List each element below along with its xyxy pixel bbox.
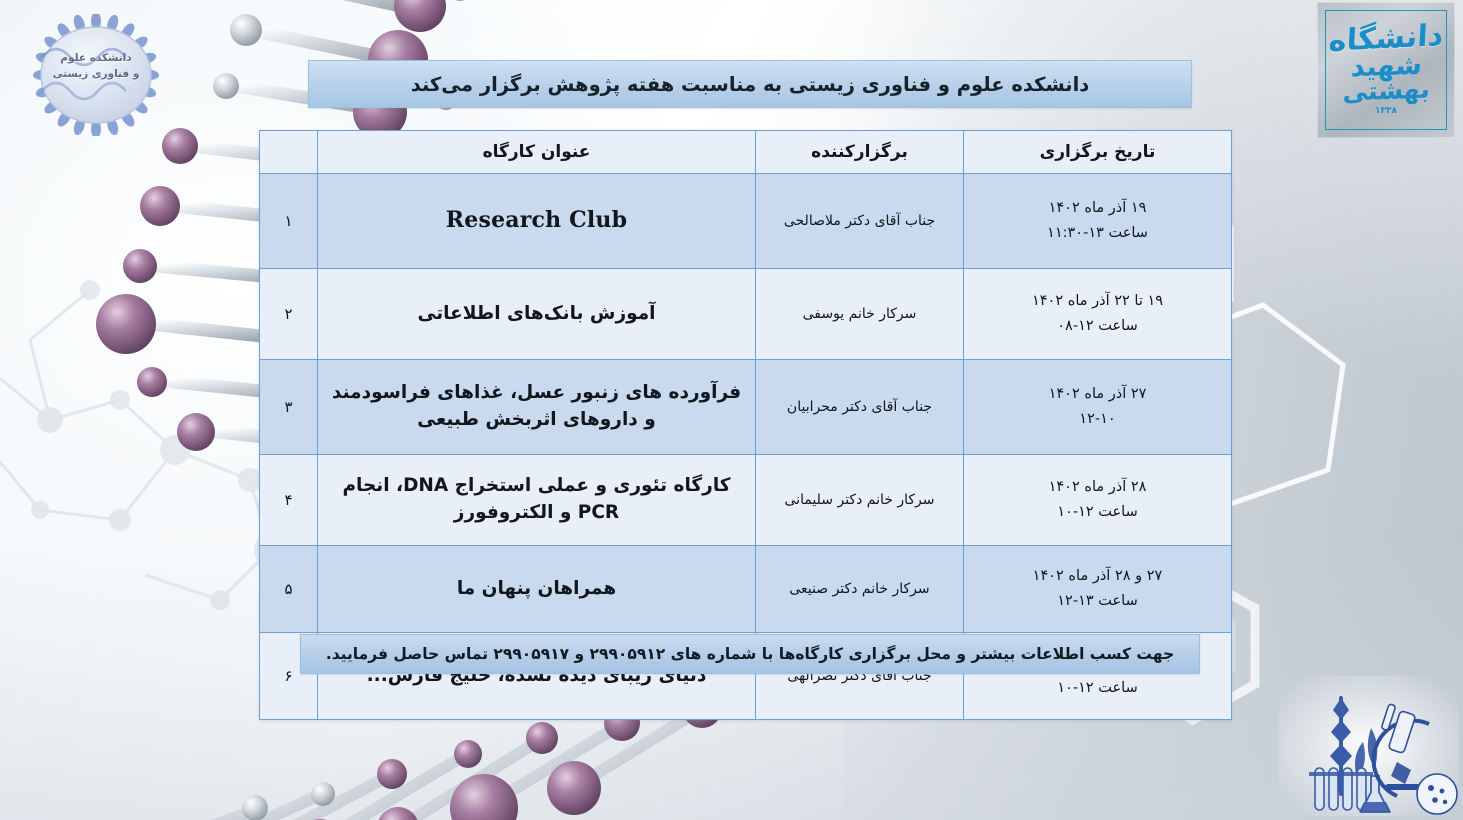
- cell-host: جناب آقای دکتر محرابیان: [756, 360, 964, 455]
- date-line-1: ۲۷ آذر ماه ۱۴۰۲: [974, 382, 1221, 407]
- workshop-schedule-table: تاریخ برگزاری برگزارکننده عنوان کارگاه ۱…: [259, 130, 1232, 720]
- date-line-2: ساعت ۱۲-۱۰: [974, 500, 1221, 525]
- table-header: تاریخ برگزاری برگزارکننده عنوان کارگاه: [260, 131, 1232, 174]
- table-row: ۱۹ آذر ماه ۱۴۰۲ ساعت ۱۳-۱۱:۳۰ جناب آقای …: [260, 174, 1232, 269]
- column-header-host: برگزارکننده: [756, 131, 964, 174]
- contact-info-banner: جهت کسب اطلاعات بیشتر و محل برگزاری کارگ…: [300, 634, 1200, 674]
- university-logo-line3: بهشتی: [1342, 76, 1430, 104]
- faculty-badge-text: دانشکده علوم و فناوری زیستی: [16, 50, 176, 82]
- cell-host: سرکار خانم دکتر صنیعی: [756, 546, 964, 633]
- faculty-badge-line1: دانشکده علوم: [16, 50, 176, 66]
- cell-title: همراهان پنهان ما: [318, 546, 756, 633]
- schedule-table-container: تاریخ برگزاری برگزارکننده عنوان کارگاه ۱…: [260, 130, 1232, 720]
- cell-host: سرکار خانم دکتر سلیمانی: [756, 455, 964, 546]
- date-line-1: ۲۷ و ۲۸ آذر ماه ۱۴۰۲: [974, 564, 1221, 589]
- faculty-badge-line2: و فناوری زیستی: [16, 66, 176, 82]
- banner-title: دانشکده علوم و فناوری زیستی به مناسبت هف…: [411, 73, 1090, 96]
- date-line-1: ۱۹ آذر ماه ۱۴۰۲: [974, 196, 1221, 221]
- cell-date: ۲۸ آذر ماه ۱۴۰۲ ساعت ۱۲-۱۰: [964, 455, 1232, 546]
- cell-title: Research Club: [318, 174, 756, 269]
- cell-date: ۲۷ آذر ماه ۱۴۰۲ ۱۲-۱۰: [964, 360, 1232, 455]
- cell-number: ۵: [260, 546, 318, 633]
- poster-canvas: CH 3 H NH: [0, 0, 1463, 820]
- cell-title: فرآورده های زنبور عسل، غذاهای فراسودمند …: [318, 360, 756, 455]
- cell-number: ۳: [260, 360, 318, 455]
- cell-host: سرکار خانم یوسفی: [756, 269, 964, 360]
- cell-title: آموزش بانک‌های اطلاعاتی: [318, 269, 756, 360]
- date-line-2: ساعت ۱۳-۱۲: [974, 589, 1221, 614]
- column-header-title: عنوان کارگاه: [318, 131, 756, 174]
- date-line-2: ساعت ۱۲-۱۰: [974, 676, 1221, 701]
- cell-number: ۲: [260, 269, 318, 360]
- date-line-2: ساعت ۱۲-۰۸: [974, 314, 1221, 339]
- table-header-row: تاریخ برگزاری برگزارکننده عنوان کارگاه: [260, 131, 1232, 174]
- header-banner: دانشکده علوم و فناوری زیستی به مناسبت هف…: [308, 60, 1192, 108]
- faculty-badge: دانشکده علوم و فناوری زیستی: [16, 14, 176, 136]
- column-header-date: تاریخ برگزاری: [964, 131, 1232, 174]
- cell-date: ۱۹ تا ۲۲ آذر ماه ۱۴۰۲ ساعت ۱۲-۰۸: [964, 269, 1232, 360]
- cell-date: ۲۷ و ۲۸ آذر ماه ۱۴۰۲ ساعت ۱۳-۱۲: [964, 546, 1232, 633]
- table-row: ۱۹ تا ۲۲ آذر ماه ۱۴۰۲ ساعت ۱۲-۰۸ سرکار خ…: [260, 269, 1232, 360]
- contact-info-text: جهت کسب اطلاعات بیشتر و محل برگزاری کارگ…: [326, 645, 1174, 663]
- date-line-2: ساعت ۱۳-۱۱:۳۰: [974, 221, 1221, 246]
- table-row: ۲۸ آذر ماه ۱۴۰۲ ساعت ۱۲-۱۰ سرکار خانم دک…: [260, 455, 1232, 546]
- university-logo: دانشگاه شهید بهشتی ۱۳۳۸: [1317, 2, 1455, 138]
- cell-number: ۱: [260, 174, 318, 269]
- date-line-2: ۱۲-۱۰: [974, 407, 1221, 432]
- cell-title: کارگاه تئوری و عملی استخراج DNA، انجام P…: [318, 455, 756, 546]
- date-line-1: ۲۸ آذر ماه ۱۴۰۲: [974, 475, 1221, 500]
- cell-number: ۴: [260, 455, 318, 546]
- cell-date: ۱۹ آذر ماه ۱۴۰۲ ساعت ۱۳-۱۱:۳۰: [964, 174, 1232, 269]
- date-line-1: ۱۹ تا ۲۲ آذر ماه ۱۴۰۲: [974, 289, 1221, 314]
- university-logo-year: ۱۳۳۸: [1375, 106, 1397, 116]
- column-header-number: [260, 131, 318, 174]
- table-row: ۲۷ آذر ماه ۱۴۰۲ ۱۲-۱۰ جناب آقای دکتر محر…: [260, 360, 1232, 455]
- university-logo-calligraphy-icon: دانشگاه شهید بهشتی ۱۳۳۸: [1327, 12, 1445, 128]
- cell-host: جناب آقای دکتر ملاصالحی: [756, 174, 964, 269]
- laboratory-illustration-icon: [1279, 676, 1459, 816]
- table-row: ۲۷ و ۲۸ آذر ماه ۱۴۰۲ ساعت ۱۳-۱۲ سرکار خا…: [260, 546, 1232, 633]
